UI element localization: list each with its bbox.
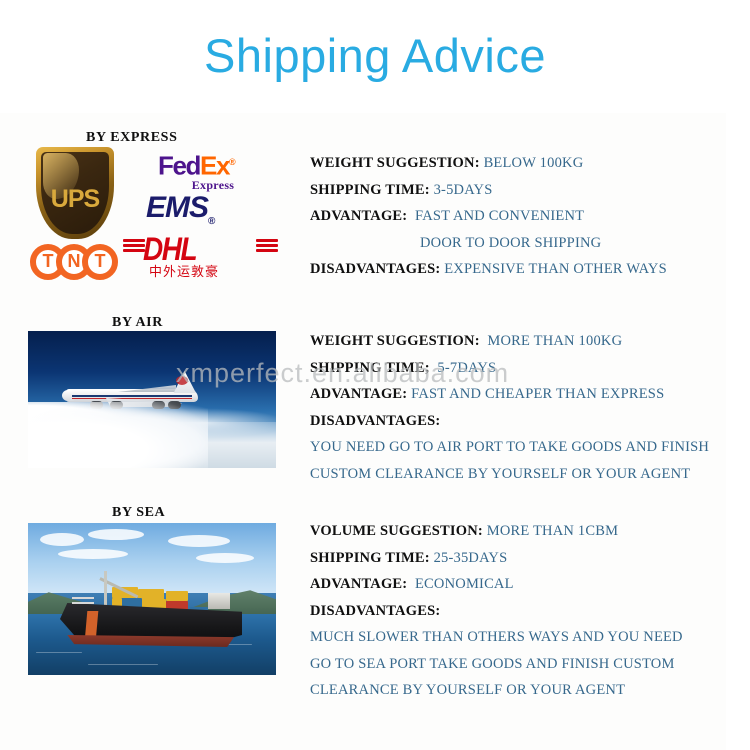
express-row-weight: WEIGHT SUGGESTION: BELOW 100KG [310,150,667,177]
fedex-wordmark: FedEx® [158,149,234,179]
sea-row-advantage: ADVANTAGE: ECONOMICAL [310,571,683,598]
dhl-logo: DHL 中外运敦豪 [123,233,278,281]
dhl-speedlines-right [256,239,278,253]
ship-mast [104,571,107,605]
air-text-block: WEIGHT SUGGESTION: MORE THAN 100KG SHIPP… [310,328,709,487]
tnt-logo: T N T [30,242,126,282]
ship-deckhouse [208,593,230,609]
sea-text-block: VOLUME SUGGESTION: MORE THAN 1CBM SHIPPI… [310,518,683,704]
sea-row-volume: VOLUME SUGGESTION: MORE THAN 1CBM [310,518,683,545]
sea-row-time: SHIPPING TIME: 25-35DAYS [310,545,683,572]
airplane-tail-marking [176,376,188,385]
dhl-chinese-label: 中外运敦豪 [149,261,219,280]
tnt-letter-3: T [82,251,118,272]
shipping-advice-infographic: Shipping Advice BY EXPRESS UPS T N T Fed… [0,0,750,750]
air-disadvantage-line-1: YOU NEED GO TO AIR PORT TO TAKE GOODS AN… [310,434,709,461]
sea-cloud-4 [58,549,128,559]
express-row-advantage: ADVANTAGE: FAST AND CONVENIENT [310,203,667,230]
page-title: Shipping Advice [0,28,750,84]
air-row-weight: WEIGHT SUGGESTION: MORE THAN 100KG [310,328,709,355]
air-cloud-mass [28,402,208,468]
sea-cloud-2 [88,529,144,540]
express-text-block: WEIGHT SUGGESTION: BELOW 100KG SHIPPING … [310,150,667,283]
sea-cloud-1 [40,533,84,546]
ship-hull-band-1 [72,597,94,599]
ems-wordmark: EMS [146,191,208,224]
section-header-air: BY AIR [112,315,163,331]
express-row-advantage-cont: DOOR TO DOOR SHIPPING [310,230,667,257]
express-row-time: SHIPPING TIME: 3-5DAYS [310,177,667,204]
ship-hull-band-2 [72,602,94,604]
courier-logos-group: UPS T N T FedEx® Express EMS® DHL 中外运敦豪 [28,145,278,285]
airplane-photo [28,331,276,468]
sea-disadvantage-line-3: CLEARANCE BY YOURSELF OR YOUR AGENT [310,677,683,704]
fedex-logo: FedEx® Express [158,149,234,193]
ship-illustration [60,573,245,651]
air-disadvantage-line-2: CUSTOM CLEARANCE BY YOURSELF OR YOUR AGE… [310,461,709,488]
air-row-advantage: ADVANTAGE: FAST AND CHEAPER THAN EXPRESS [310,381,709,408]
container-ship-photo [28,523,276,675]
sea-cloud-5 [196,553,254,563]
air-row-disadvantages: DISADVANTAGES: [310,408,709,435]
sea-cloud-3 [168,535,230,547]
sea-row-disadvantages: DISADVANTAGES: [310,598,683,625]
sea-disadvantage-line-1: MUCH SLOWER THAN OTHERS WAYS AND YOU NEE… [310,624,683,651]
container-7 [166,591,188,601]
ems-registered-icon: ® [208,216,214,227]
section-header-express: BY EXPRESS [86,130,177,146]
container-3 [120,598,142,607]
air-row-time: SHIPPING TIME; 5-7DAYS [310,355,709,382]
ups-logo-text: UPS [36,185,114,214]
sea-wave-1 [36,652,82,654]
express-row-disadvantages: DISADVANTAGES: EXPENSIVE THAN OTHER WAYS [310,256,667,283]
section-header-sea: BY SEA [112,505,165,521]
sea-wave-3 [88,664,158,666]
ups-logo: UPS [36,147,114,239]
airplane-stripe-red [72,398,192,400]
dhl-speedlines-left [123,239,145,253]
sea-disadvantage-line-2: GO TO SEA PORT TAKE GOODS AND FINISH CUS… [310,651,683,678]
